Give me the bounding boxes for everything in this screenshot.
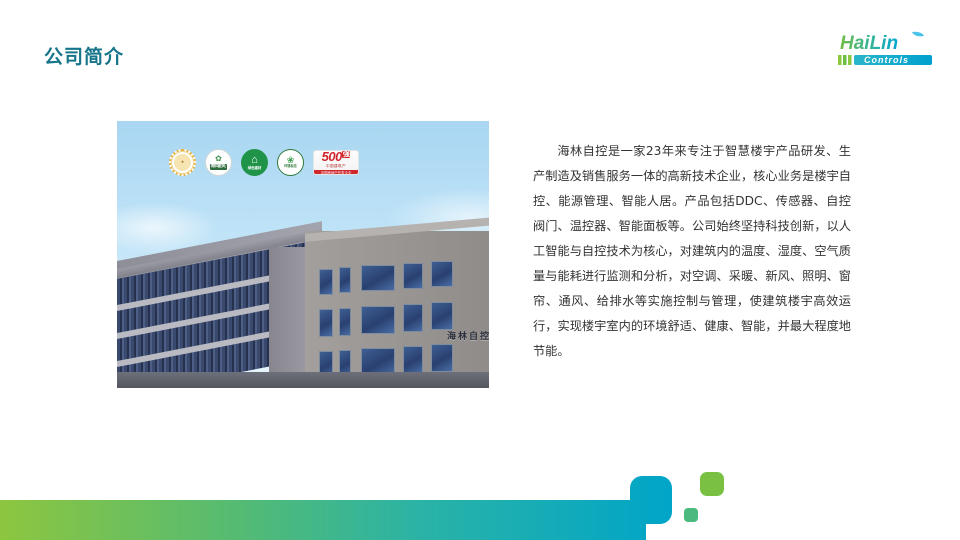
footer-square-large: [700, 472, 724, 496]
environment-badge: ❀环境标志: [277, 149, 304, 176]
leaf-icon: [912, 32, 924, 37]
footer-square-small: [684, 508, 698, 522]
company-introduction-text: 海林自控是一家23年来专注于智慧楼宇产品研发、生产制造及销售服务一体的高新技术企…: [533, 139, 851, 364]
building-sign: 海林自控: [447, 329, 489, 342]
footer-decoration: [0, 450, 960, 540]
slide-root: 公司简介 HaiLin: [0, 0, 960, 540]
building-main-block: 海林自控: [305, 231, 489, 388]
ground-strip: [117, 372, 489, 388]
hailin-logo: HaiLin Controls: [828, 30, 946, 70]
certification-badges: ★ ✿精瑞奖 ⌂绿色建材 ❀环境标志 500强 中国建筑产 中国房地产开: [169, 149, 359, 176]
quality-badge: ✿精瑞奖: [205, 149, 232, 176]
company-building-photo: ★ ✿精瑞奖 ⌂绿色建材 ❀环境标志 500强 中国建筑产 中国房地产开: [117, 121, 489, 388]
page-title: 公司简介: [44, 42, 124, 69]
gold-seal-badge: ★: [169, 149, 196, 176]
footer-bar-shape: [0, 476, 672, 540]
logo-tagline-text: Controls: [864, 55, 909, 65]
green-building-badge: ⌂绿色建材: [241, 149, 268, 176]
top500-badge: 500强 中国建筑产 中国房地产开发企业: [313, 150, 359, 175]
logo-wordmark-text: HaiLin: [840, 33, 898, 54]
